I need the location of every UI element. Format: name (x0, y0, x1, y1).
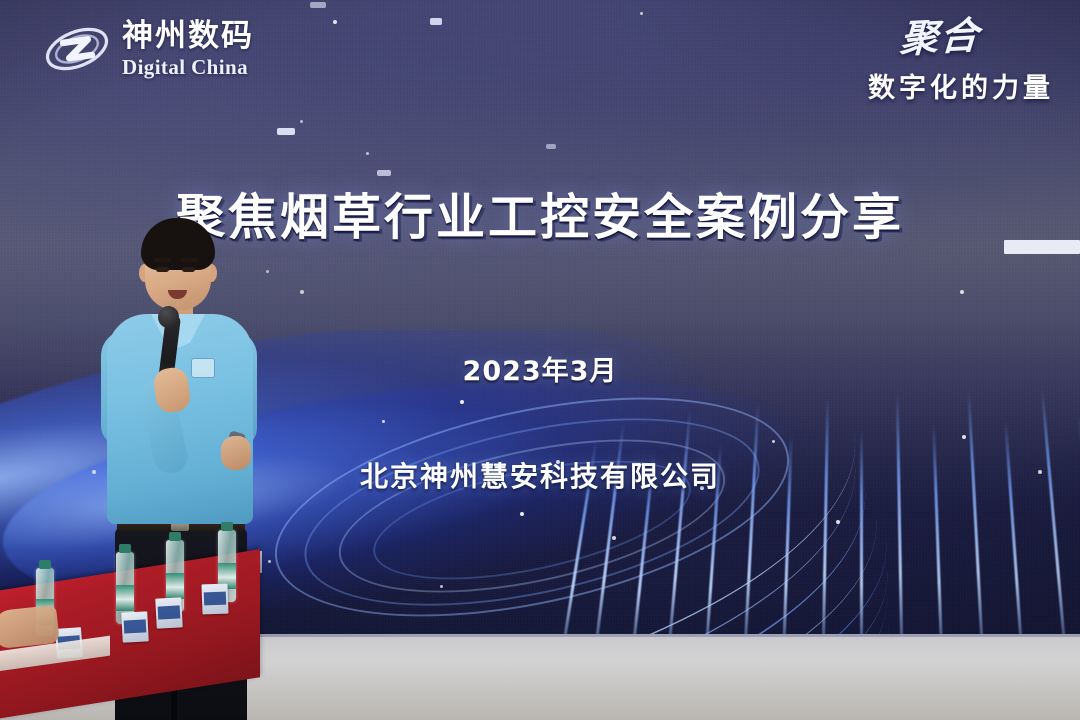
slogan-subtitle: 数字化的力量 (868, 66, 1054, 105)
name-placard (155, 597, 183, 628)
digital-china-logo: 神州数码 Digital China (44, 18, 254, 80)
digital-china-swirl-icon (44, 18, 110, 80)
speaker-hand-right (221, 436, 251, 470)
speaker-eye-left (156, 267, 169, 272)
name-placard (201, 584, 228, 615)
name-placard (121, 611, 149, 642)
speaker-eyebrow-right (180, 258, 197, 262)
attendee-hand (0, 605, 60, 649)
brand-name-cn: 神州数码 (122, 21, 254, 52)
slogan-calligraphy: 聚合 (867, 17, 981, 61)
speaker-hair (141, 218, 215, 270)
speaker-eyebrow-left (154, 258, 171, 262)
event-slogan: 聚合 数字化的力量 (868, 20, 1054, 105)
polo-chest-logo-icon (191, 358, 215, 378)
brand-name-en: Digital China (122, 57, 254, 78)
conference-photo: 神州数码 Digital China 聚合 数字化的力量 聚焦烟草行业工控安全案… (0, 0, 1080, 720)
speaker-eye-right (182, 267, 195, 272)
